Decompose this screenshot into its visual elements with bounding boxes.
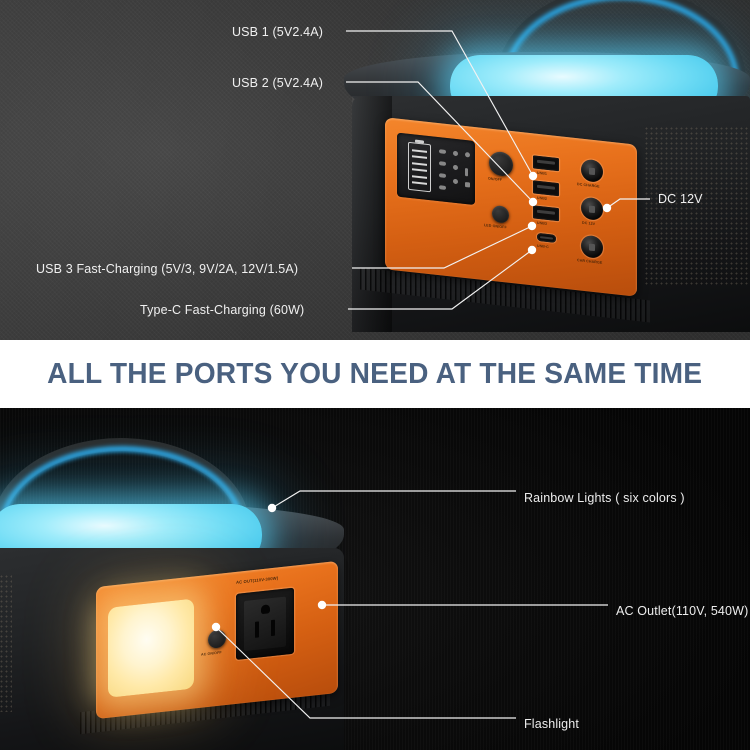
dc-charge-marking: DC CHARGE xyxy=(577,182,600,188)
usb-icon xyxy=(453,151,458,157)
callout-label-dc12v: DC 12V xyxy=(658,192,703,206)
dc-12v-port[interactable] xyxy=(581,197,603,221)
dc-icon xyxy=(453,165,458,171)
callout-label-rainbow: Rainbow Lights ( six colors ) xyxy=(524,491,685,505)
car-charge-marking: CAR CHARGE xyxy=(577,258,602,265)
plug-icon xyxy=(465,182,470,188)
ac-ground-pin xyxy=(261,604,270,614)
status-icon-b xyxy=(439,161,446,166)
usb3-marking: USB3 xyxy=(537,221,547,226)
usbc-marking: USB-C xyxy=(537,244,549,249)
usb1-port[interactable] xyxy=(533,155,559,171)
battery-gauge xyxy=(408,142,431,192)
headline-text: ALL THE PORTS YOU NEED AT THE SAME TIME xyxy=(47,358,702,391)
status-icon-d xyxy=(439,185,446,190)
ac-outlet[interactable] xyxy=(236,588,294,660)
usb-c-port[interactable] xyxy=(537,233,556,243)
top-product-panel: ON/OFF LED ON/OFF USB1 USB2 USB3 USB-C D… xyxy=(0,0,750,340)
dc-12v-marking: DC 12V xyxy=(582,221,595,226)
bolt-icon xyxy=(465,168,468,176)
callout-label-usb3: USB 3 Fast-Charging (5V/3, 9V/2A, 12V/1.… xyxy=(36,262,298,276)
infographic-stage: ON/OFF LED ON/OFF USB1 USB2 USB3 USB-C D… xyxy=(0,0,750,750)
usb2-marking: USB2 xyxy=(537,196,547,201)
callout-label-usb2: USB 2 (5V2.4A) xyxy=(232,76,323,90)
dc-charge-port[interactable] xyxy=(581,159,603,183)
power-onoff-button[interactable] xyxy=(489,151,513,178)
vent-grille-left xyxy=(0,574,12,712)
ac-outlet-face xyxy=(244,597,286,652)
status-icon-c xyxy=(439,173,446,178)
callout-label-flashlight: Flashlight xyxy=(524,717,579,731)
onoff-marking: ON/OFF xyxy=(488,177,502,183)
power-icon xyxy=(465,152,470,158)
vent-grille-right xyxy=(644,126,750,286)
headline-banner: ALL THE PORTS YOU NEED AT THE SAME TIME xyxy=(0,340,750,408)
ac-slot-left xyxy=(255,621,259,637)
car-charge-port[interactable] xyxy=(581,235,603,259)
usb2-port[interactable] xyxy=(533,180,559,196)
led-onoff-marking: LED ON/OFF xyxy=(484,223,507,229)
flashlight-panel xyxy=(108,598,194,697)
usb3-port[interactable] xyxy=(533,205,559,221)
ac-onoff-button[interactable] xyxy=(208,629,226,649)
ac-onoff-marking: AC ON/OFF xyxy=(201,650,222,656)
callout-label-usb1: USB 1 (5V2.4A) xyxy=(232,25,323,39)
led-onoff-button[interactable] xyxy=(492,205,509,224)
ac-out-marking: AC OUT(110V-300W) xyxy=(236,575,278,585)
bottom-product-panel: AC OUT(110V-300W) AC ON/OFF Rainbow Ligh… xyxy=(0,408,750,750)
status-icon-a xyxy=(439,149,446,154)
battery-display xyxy=(397,133,475,205)
usb1-marking: USB1 xyxy=(537,171,547,176)
callout-label-typec: Type-C Fast-Charging (60W) xyxy=(140,303,304,317)
callout-label-ac-outlet: AC Outlet(110V, 540W) xyxy=(616,604,748,618)
ac-icon xyxy=(453,179,458,185)
ac-slot-right xyxy=(271,620,275,636)
